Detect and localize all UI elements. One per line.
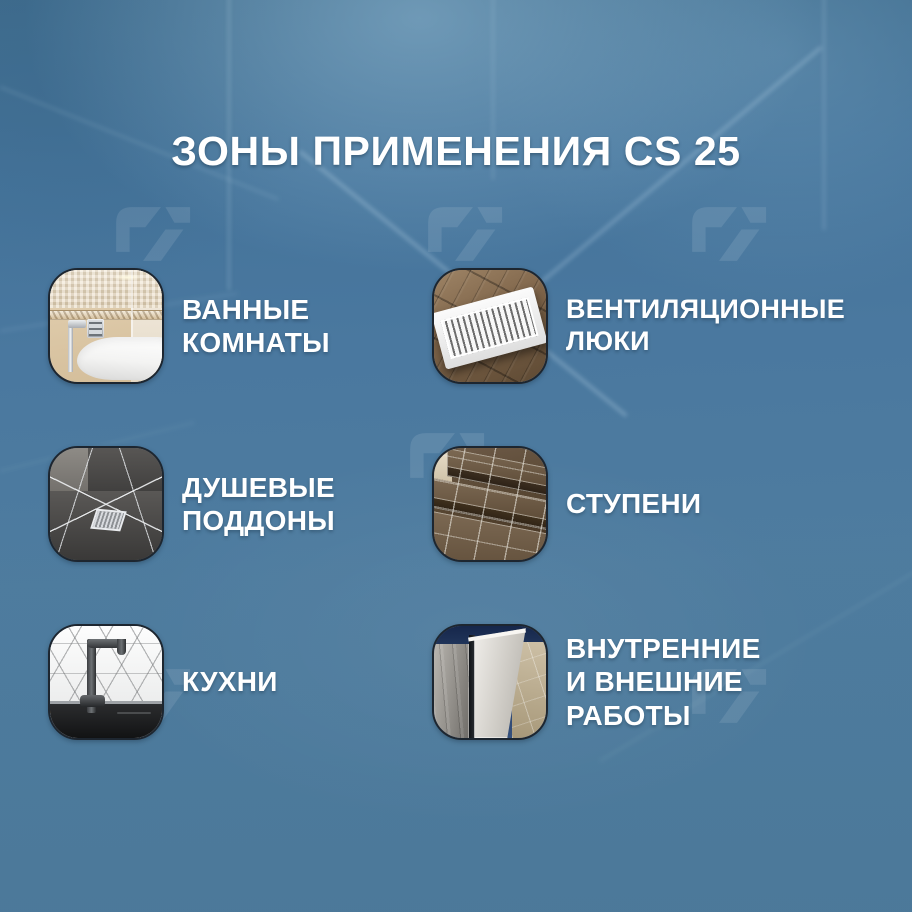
application-zones-poster: ЗОНЫ ПРИМЕНЕНИЯ CS 25 ВАННЫЕ КОМНАТЫ	[0, 0, 912, 912]
list-item-label: КУХНИ	[182, 665, 278, 698]
list-item-label: СТУПЕНИ	[566, 487, 701, 520]
list-item-label: ДУШЕВЫЕ ПОДДОНЫ	[182, 471, 335, 537]
list-item-label: ВНУТРЕННИЕ И ВНЕШНИЕ РАБОТЫ	[566, 632, 761, 731]
list-item-label: ВЕНТИЛЯЦИОННЫЕ ЛЮКИ	[566, 294, 845, 358]
list-item-steps[interactable]: СТУПЕНИ	[432, 440, 892, 568]
building-corner-thumbnail-icon	[432, 624, 548, 740]
list-item-shower-trays[interactable]: ДУШЕВЫЕ ПОДДОНЫ	[48, 440, 418, 568]
list-item-label: ВАННЫЕ КОМНАТЫ	[182, 293, 330, 359]
list-item-interior-exterior-works[interactable]: ВНУТРЕННИЕ И ВНЕШНИЕ РАБОТЫ	[432, 618, 892, 746]
application-zones-grid: ВАННЫЕ КОМНАТЫ ВЕНТИЛЯЦИОННЫЕ ЛЮКИ	[0, 0, 912, 912]
shower-tray-thumbnail-icon	[48, 446, 164, 562]
ventilation-grille-thumbnail-icon	[432, 268, 548, 384]
list-item-ventilation-hatches[interactable]: ВЕНТИЛЯЦИОННЫЕ ЛЮКИ	[432, 262, 892, 390]
list-item-kitchens[interactable]: КУХНИ	[48, 618, 418, 746]
tiled-steps-thumbnail-icon	[432, 446, 548, 562]
kitchen-thumbnail-icon	[48, 624, 164, 740]
bathroom-thumbnail-icon	[48, 268, 164, 384]
list-item-bathrooms[interactable]: ВАННЫЕ КОМНАТЫ	[48, 262, 418, 390]
